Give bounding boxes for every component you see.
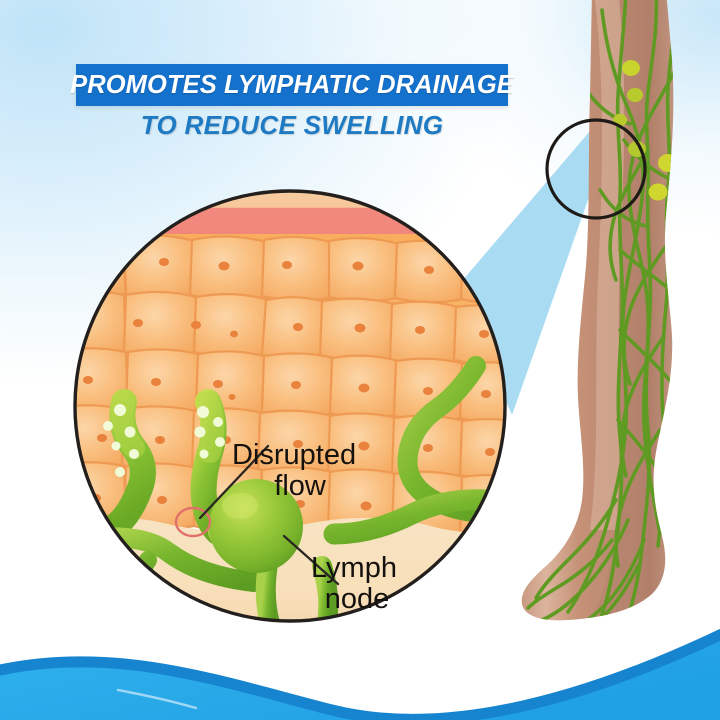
capillary-down-left	[102, 560, 148, 596]
leg-node	[683, 147, 700, 162]
lymph-node-highlight	[222, 493, 258, 519]
headline-banner: PROMOTES LYMPHATIC DRAINAGE	[76, 64, 508, 106]
leg-node	[673, 53, 692, 70]
poster-canvas: Disrupted flow Lymph node	[0, 0, 720, 720]
headline-text: PROMOTES LYMPHATIC DRAINAGE	[70, 71, 514, 100]
leg-node	[627, 88, 643, 102]
leg-node	[622, 60, 640, 76]
leg-node	[649, 184, 668, 201]
leg-illustration	[520, 0, 720, 660]
leg-node	[658, 154, 678, 172]
capillary-node-outflow	[266, 564, 272, 624]
leg-node	[675, 119, 692, 134]
subheadline-text: TO REDUCE SWELLING	[76, 110, 508, 141]
magnified-skin-view	[72, 188, 508, 624]
